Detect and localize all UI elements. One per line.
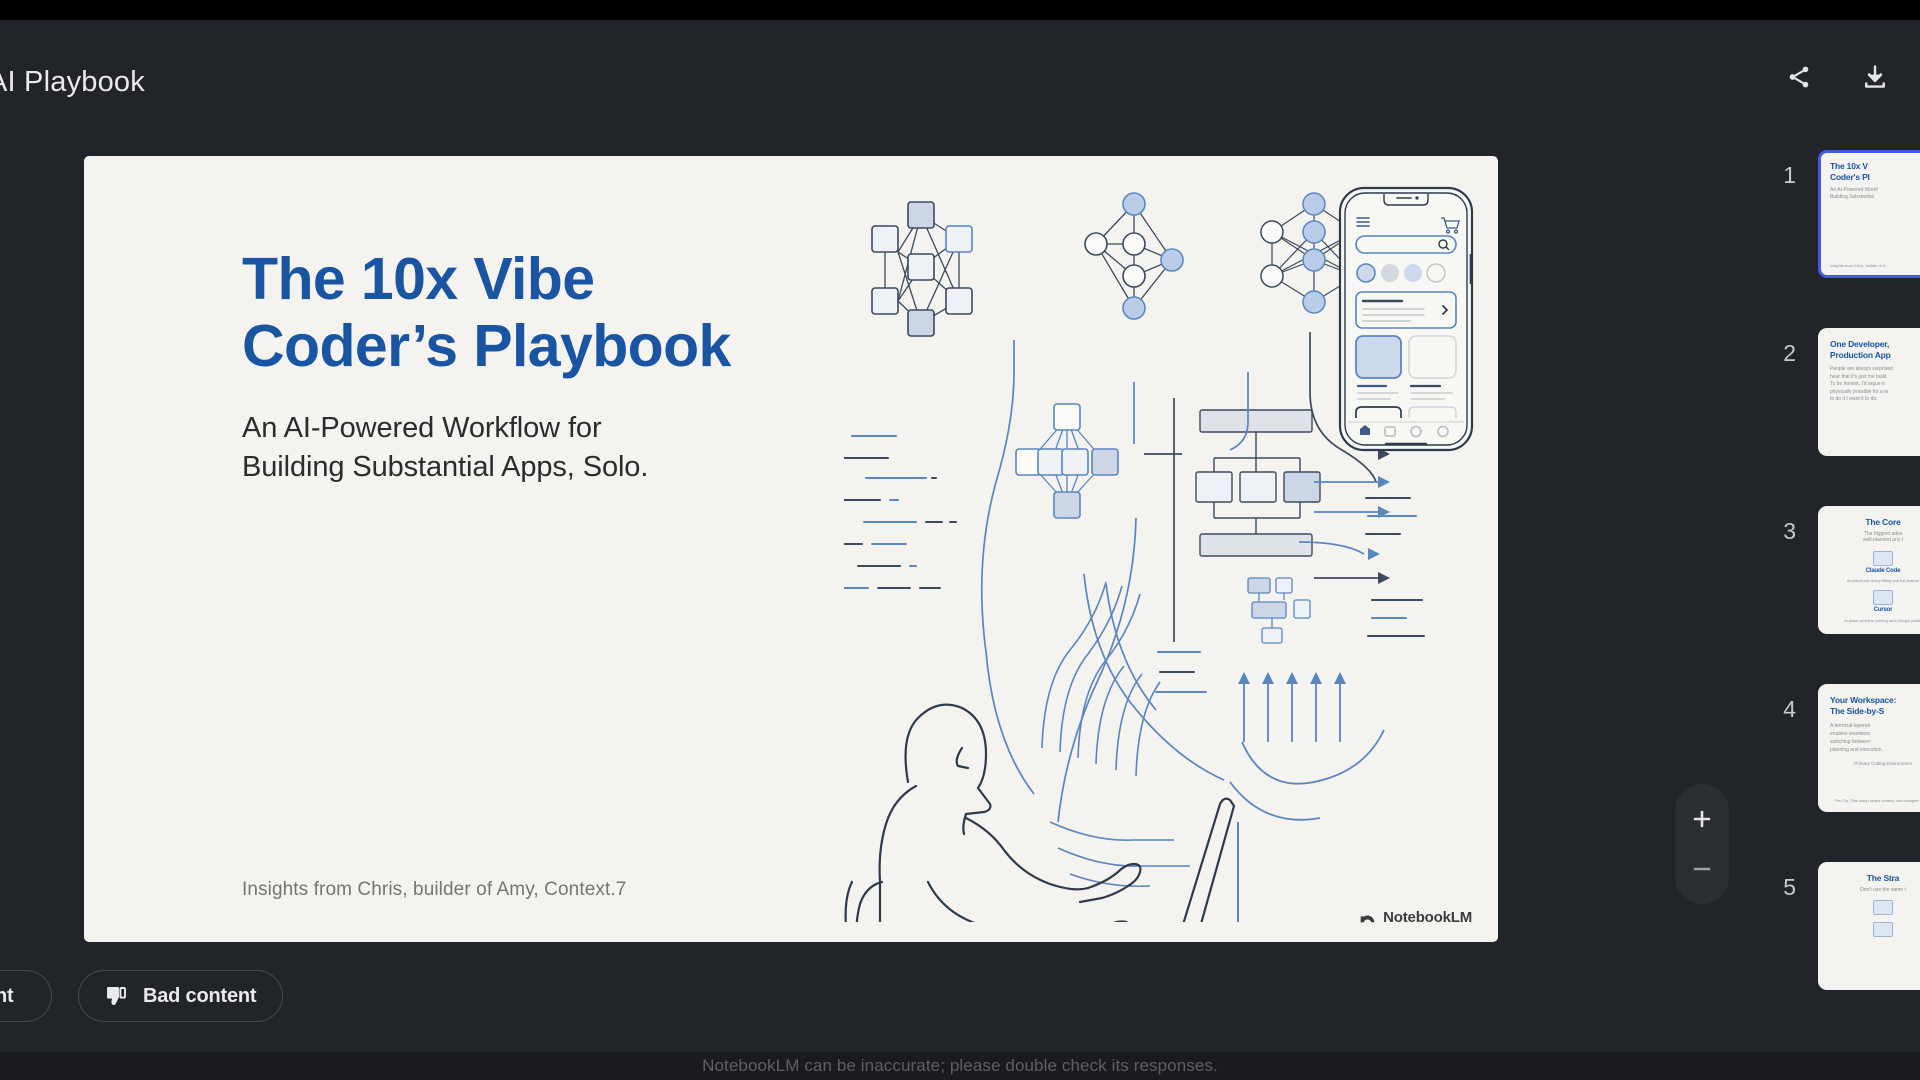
thumb4-label: Primary Coding Environment [1830, 761, 1920, 767]
zoom-controls[interactable] [1675, 784, 1729, 904]
thumbnail-item[interactable]: 4 Your Workspace: The Side-by-S A termin… [1790, 674, 1920, 852]
thumbnail-number: 3 [1762, 518, 1796, 545]
thumbnail-card-4[interactable]: Your Workspace: The Side-by-S A terminal… [1818, 684, 1920, 812]
bad-content-label: Bad content [143, 985, 256, 1008]
thumb3-item-1-sub: Architectural heavy lifting and full-fea… [1830, 578, 1920, 583]
viewer-header: AI Playbook [0, 20, 1920, 100]
good-content-button[interactable]: nt [0, 970, 52, 1022]
thumbnail-item[interactable]: 3 The Core The biggest adva well-planned… [1790, 496, 1920, 674]
thumbnail-item[interactable]: 1 The 10x V Coder's Pl An AI-Powered Wor… [1790, 140, 1920, 318]
header-actions [1782, 60, 1892, 94]
footer-disclaimer-bar: NotebookLM can be inaccurate; please dou… [0, 1052, 1920, 1080]
thumb2-title-2: Production App [1830, 350, 1920, 361]
slide-text-block: The 10x Vibe Coder’s Playbook An AI-Powe… [242, 246, 822, 487]
download-button[interactable] [1858, 60, 1892, 94]
thumb3-title: The Core [1830, 517, 1920, 528]
minus-icon [1690, 857, 1714, 881]
thumb3-sub-2: well-planned any t [1830, 537, 1920, 544]
thumb4-title-1: Your Workspace: [1830, 695, 1920, 706]
thumb2-sub-1: People are always surprised [1830, 366, 1920, 374]
zoom-in-button[interactable] [1685, 802, 1719, 836]
thumb2-title-1: One Developer, [1830, 339, 1920, 350]
thumbnail-number: 5 [1762, 874, 1796, 901]
feedback-toolbar: nt Bad content [0, 970, 1920, 1040]
diamond-icon [1873, 900, 1893, 915]
thumb4-foot: Pro Tip: This setup keeps context and ch… [1830, 798, 1920, 803]
slide-thumbnail-rail[interactable]: 1 The 10x V Coder's Pl An AI-Powered Wor… [1790, 140, 1920, 940]
thumb1-sub-2: Building Substantial [1830, 194, 1920, 201]
thumbnail-number: 4 [1762, 696, 1796, 723]
thumbnail-number: 2 [1762, 340, 1796, 367]
thumbnail-number: 1 [1762, 162, 1796, 189]
share-icon [1786, 64, 1812, 90]
bad-content-button[interactable]: Bad content [78, 970, 283, 1022]
thumbnail-card-2[interactable]: One Developer, Production App People are… [1818, 328, 1920, 456]
thumbnail-item[interactable]: 2 One Developer, Production App People a… [1790, 318, 1920, 496]
cursor-icon [1873, 590, 1893, 605]
claude-code-icon [1873, 551, 1893, 566]
thumb1-foot: Insights from Chris, builder of A [1830, 263, 1886, 268]
thumb-down-icon [105, 984, 129, 1008]
slide-subtitle-line-2: Building Substantial Apps, Solo. [242, 448, 822, 487]
thumb4-sub-2: enables seamless [1830, 730, 1920, 738]
thumb1-title-1: The 10x V [1830, 161, 1920, 172]
thumb2-sub-3: To be honest, I'd argue it [1830, 381, 1920, 389]
thumb3-item-1: Claude Code [1830, 568, 1920, 576]
thumb2-sub-4: physically possible for a te [1830, 389, 1920, 397]
thumb4-title-2: The Side-by-S [1830, 706, 1920, 717]
window-top-strip [0, 0, 1920, 20]
thumb4-sub-4: planning and execution. [1830, 746, 1920, 754]
slide-caption: Insights from Chris, builder of Amy, Con… [242, 879, 626, 901]
thumb2-sub-5: to do it I want it to do. [1830, 396, 1920, 404]
thumbnail-card-3[interactable]: The Core The biggest adva well-planned a… [1818, 506, 1920, 634]
slide-title-line-1: The 10x Vibe [242, 246, 822, 313]
thumb4-sub-3: switching between [1830, 738, 1920, 746]
thumb5-title: The Stra [1830, 873, 1920, 884]
slide-subtitle: An AI-Powered Workflow for Building Subs… [242, 409, 822, 487]
zoom-out-button[interactable] [1685, 852, 1719, 886]
share-button[interactable] [1782, 60, 1816, 94]
thumb3-item-2: Cursor [1830, 607, 1920, 615]
page-title: AI Playbook [0, 66, 145, 99]
thumbnail-card-1[interactable]: The 10x V Coder's Pl An AI-Powered Workf… [1818, 150, 1920, 278]
download-icon [1861, 63, 1889, 91]
slide-title-line-2: Coder’s Playbook [242, 313, 822, 380]
sparkle-icon [1873, 922, 1893, 937]
thumb4-sub-1: A terminal-layered [1830, 722, 1920, 730]
plus-icon [1690, 807, 1714, 831]
slide-canvas[interactable]: The 10x Vibe Coder’s Playbook An AI-Powe… [84, 156, 1498, 942]
slide-subtitle-line-1: An AI-Powered Workflow for [242, 409, 822, 448]
notebooklm-slide-viewer: AI Playbook [0, 0, 1920, 1080]
good-content-label: nt [0, 985, 13, 1008]
slide-illustration [844, 182, 1484, 922]
thumb2-sub-2: hear that it's just me build [1830, 374, 1920, 382]
thumb5-sub: Don't use the same t [1830, 887, 1920, 894]
thumb1-title-2: Coder's Pl [1830, 172, 1920, 183]
slide-title: The 10x Vibe Coder’s Playbook [242, 246, 822, 379]
thumb3-item-2-sub: In-place problem solving and UI/logic po… [1830, 618, 1920, 623]
footer-disclaimer: NotebookLM can be inaccurate; please dou… [702, 1056, 1218, 1076]
